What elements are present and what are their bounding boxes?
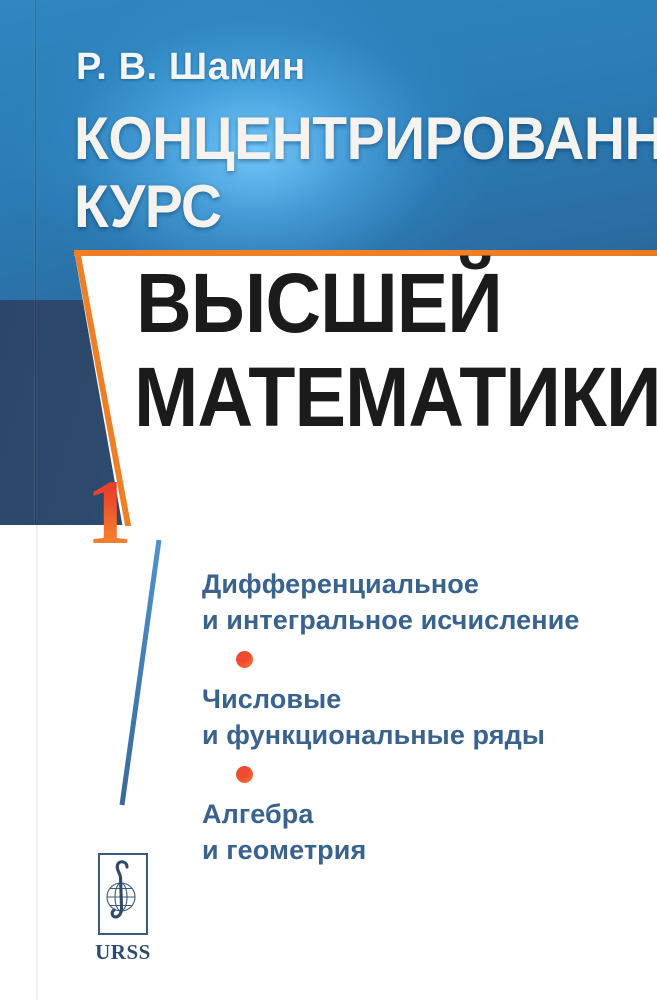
publisher-logo: URSS [83, 853, 163, 965]
bullet-dot-icon [236, 766, 253, 783]
title-line-concentrated: КОНЦЕНТРИРОВАННЫЙ [74, 104, 657, 173]
subtitle-entry: Дифференциальное и интегральное исчислен… [202, 566, 632, 639]
title-line-mathematics: МАТЕМАТИКИ [134, 348, 657, 446]
bullet-separator [202, 754, 632, 796]
subtitle-entry: Числовые и функциональные ряды [202, 681, 632, 754]
integral-globe-icon [98, 853, 148, 935]
subtitle-line: Дифференциальное [202, 566, 632, 602]
title-line-course: КУРС [74, 172, 222, 241]
subtitle-line: Алгебра [202, 796, 632, 832]
subtitle-line: и геометрия [202, 832, 632, 868]
subtitle-list: Дифференциальное и интегральное исчислен… [202, 566, 632, 869]
subtitle-line: Числовые [202, 681, 632, 717]
author-name: Р. В. Шамин [76, 46, 306, 89]
subtitle-line: и функциональные ряды [202, 717, 632, 753]
publisher-name: URSS [83, 940, 163, 965]
subtitle-line: и интегральное исчисление [202, 602, 632, 638]
bullet-dot-icon [236, 651, 253, 668]
title-line-higher: ВЫСШЕЙ [136, 254, 502, 352]
subtitle-entry: Алгебра и геометрия [202, 796, 632, 869]
spine-crease-line [34, 0, 37, 525]
book-cover: Р. В. Шамин КОНЦЕНТРИРОВАННЫЙ КУРС ВЫСШЕ… [0, 0, 657, 1000]
bullet-separator [202, 639, 632, 681]
